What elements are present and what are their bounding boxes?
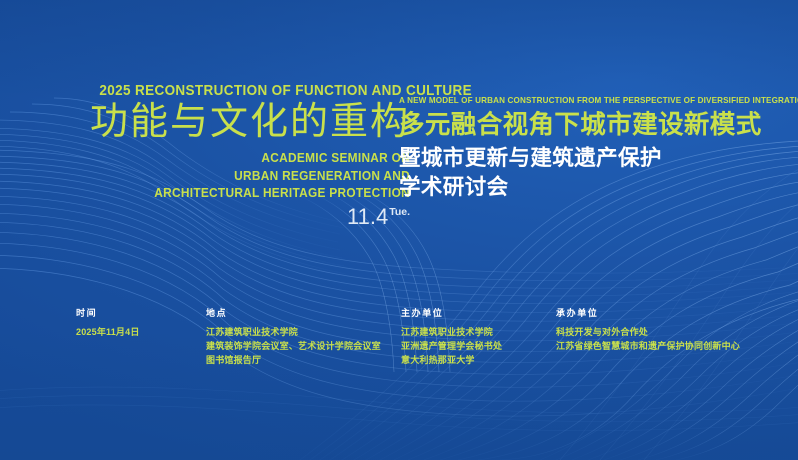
chinese-main-title: 功能与文化的重构 bbox=[76, 101, 410, 144]
seminar-english-line-2: URBAN REGENERATION AND bbox=[93, 168, 410, 186]
info-line: 图书馆报告厅 bbox=[206, 353, 401, 367]
info-column-host: 主办单位 江苏建筑职业技术学院 亚洲遗产管理学会秘书处 意大利热那亚大学 bbox=[401, 308, 556, 367]
seminar-english-line-1: ACADEMIC SEMINAR ON bbox=[93, 150, 410, 168]
info-columns: 时间 2025年11月4日 地点 江苏建筑职业技术学院 建筑装饰学院会议室、艺术… bbox=[76, 308, 746, 367]
info-heading-organizer: 承办单位 bbox=[556, 308, 746, 319]
info-line: 意大利热那亚大学 bbox=[401, 353, 556, 367]
info-column-organizer: 承办单位 科技开发与对外合作处 江苏省绿色智慧城市和遗产保护协同创新中心 bbox=[556, 308, 746, 367]
event-date-weekday: Tue. bbox=[389, 206, 410, 218]
info-column-time: 时间 2025年11月4日 bbox=[76, 308, 206, 367]
info-line: 建筑装饰学院会议室、艺术设计学院会议室 bbox=[206, 339, 401, 353]
info-line: 科技开发与对外合作处 bbox=[556, 325, 746, 339]
info-line: 江苏建筑职业技术学院 bbox=[206, 325, 401, 339]
chinese-headline-tertiary: 学术研讨会 bbox=[399, 173, 749, 202]
info-column-venue: 地点 江苏建筑职业技术学院 建筑装饰学院会议室、艺术设计学院会议室 图书馆报告厅 bbox=[206, 308, 401, 367]
chinese-headline-primary: 多元融合视角下城市建设新模式 bbox=[399, 110, 749, 140]
info-heading-time: 时间 bbox=[76, 308, 206, 319]
chinese-headline-secondary: 暨城市更新与建筑遗产保护 bbox=[399, 144, 749, 173]
conference-poster: 2025 RECONSTRUCTION OF FUNCTION AND CULT… bbox=[0, 0, 798, 460]
info-line: 2025年11月4日 bbox=[76, 325, 206, 339]
info-heading-venue: 地点 bbox=[206, 308, 401, 319]
info-line: 江苏省绿色智慧城市和遗产保护协同创新中心 bbox=[556, 339, 746, 353]
info-line: 江苏建筑职业技术学院 bbox=[401, 325, 556, 339]
right-headline-block: A NEW MODEL OF URBAN CONSTRUCTION FROM T… bbox=[399, 96, 749, 202]
poster-content: 2025 RECONSTRUCTION OF FUNCTION AND CULT… bbox=[0, 0, 798, 460]
info-line: 亚洲遗产管理学会秘书处 bbox=[401, 339, 556, 353]
event-date: 11.4Tue. bbox=[76, 206, 410, 228]
info-heading-host: 主办单位 bbox=[401, 308, 556, 319]
left-title-block: 2025 RECONSTRUCTION OF FUNCTION AND CULT… bbox=[76, 84, 410, 228]
english-subtitle: A NEW MODEL OF URBAN CONSTRUCTION FROM T… bbox=[399, 96, 746, 106]
event-date-number: 11.4 bbox=[347, 204, 388, 229]
seminar-english-line-3: ARCHITECTURAL HERITAGE PROTECTION bbox=[93, 185, 410, 203]
english-eyebrow-title: 2025 RECONSTRUCTION OF FUNCTION AND CULT… bbox=[99, 84, 410, 99]
